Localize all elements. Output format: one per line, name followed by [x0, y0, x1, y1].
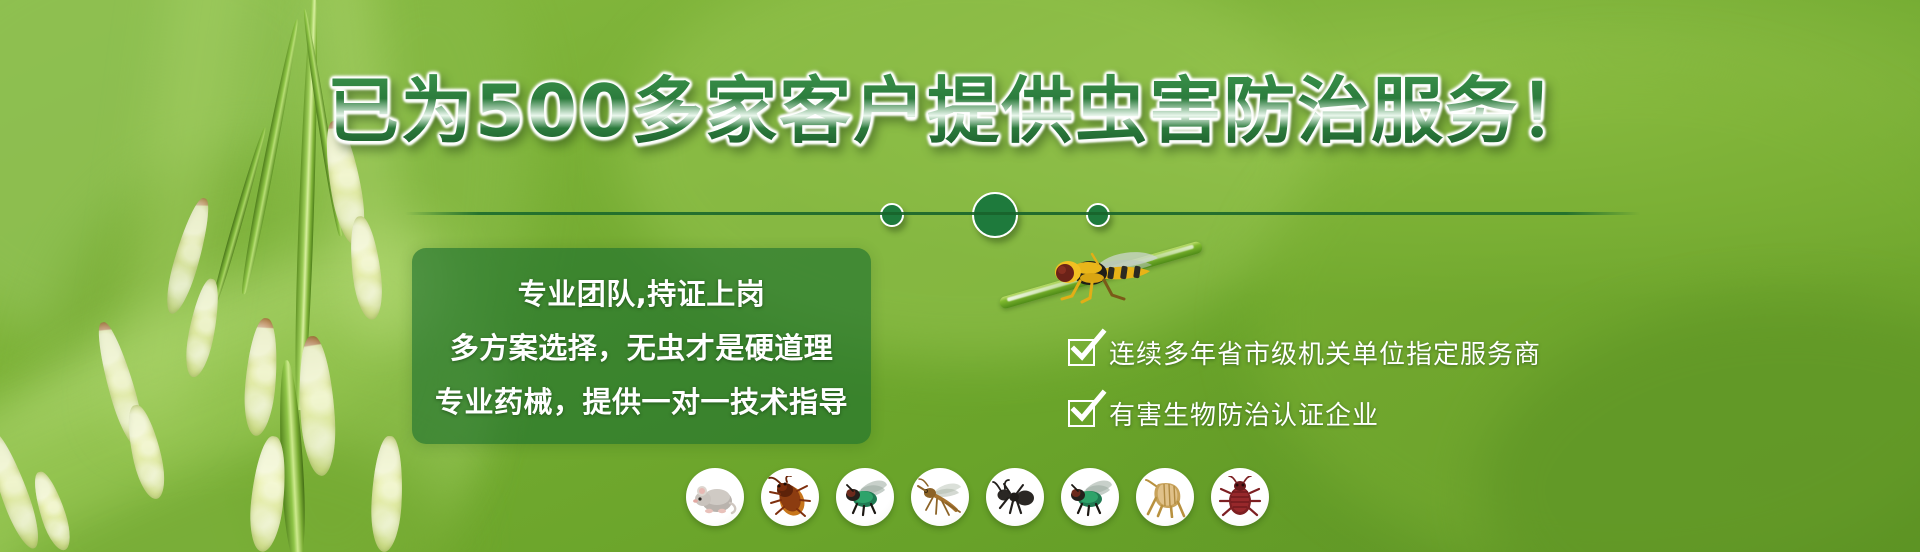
fly-icon[interactable] [836, 468, 894, 526]
pest-type-icon-strip [686, 468, 1269, 526]
headline-container: 已为500多家客户提供虫害防治服务！ [0, 72, 1920, 150]
decorative-dot-large-center [972, 192, 1018, 238]
flea-icon[interactable] [1136, 468, 1194, 526]
horizontal-divider [405, 212, 1640, 215]
promo-line-1: 专业团队,持证上岗 [518, 271, 766, 313]
cockroach-icon[interactable] [761, 468, 819, 526]
pest-control-hero-banner: 已为500多家客户提供虫害防治服务！ 专业团队,持证上岗 多方案选择，无虫才是硬… [0, 0, 1920, 552]
hoverfly-insect-icon [1046, 250, 1170, 304]
checklist-label-2: 有害生物防治认证企业 [1109, 395, 1379, 432]
mosquito-icon[interactable] [911, 468, 969, 526]
rodent-icon[interactable] [686, 468, 744, 526]
decorative-dot-group [880, 190, 1110, 240]
checkbox-checked-icon [1068, 400, 1095, 427]
promo-line-3: 专业药械，提供一对一技术指导 [435, 379, 848, 421]
checkbox-checked-icon [1068, 339, 1095, 366]
list-item: 连续多年省市级机关单位指定服务商 [1068, 334, 1541, 371]
ant-icon[interactable] [986, 468, 1044, 526]
certification-checklist: 连续多年省市级机关单位指定服务商 有害生物防治认证企业 [1068, 334, 1541, 432]
decorative-dot-small-left [880, 203, 904, 227]
page-title: 已为500多家客户提供虫害防治服务！ [327, 72, 1593, 150]
promo-text-panel: 专业团队,持证上岗 多方案选择，无虫才是硬道理 专业药械，提供一对一技术指导 [412, 248, 871, 444]
list-item: 有害生物防治认证企业 [1068, 395, 1541, 432]
checklist-label-1: 连续多年省市级机关单位指定服务商 [1109, 334, 1541, 371]
bedbug-icon[interactable] [1211, 468, 1269, 526]
fly-icon-2[interactable] [1061, 468, 1119, 526]
decorative-dot-small-right [1086, 203, 1110, 227]
promo-line-2: 多方案选择，无虫才是硬道理 [450, 325, 834, 367]
